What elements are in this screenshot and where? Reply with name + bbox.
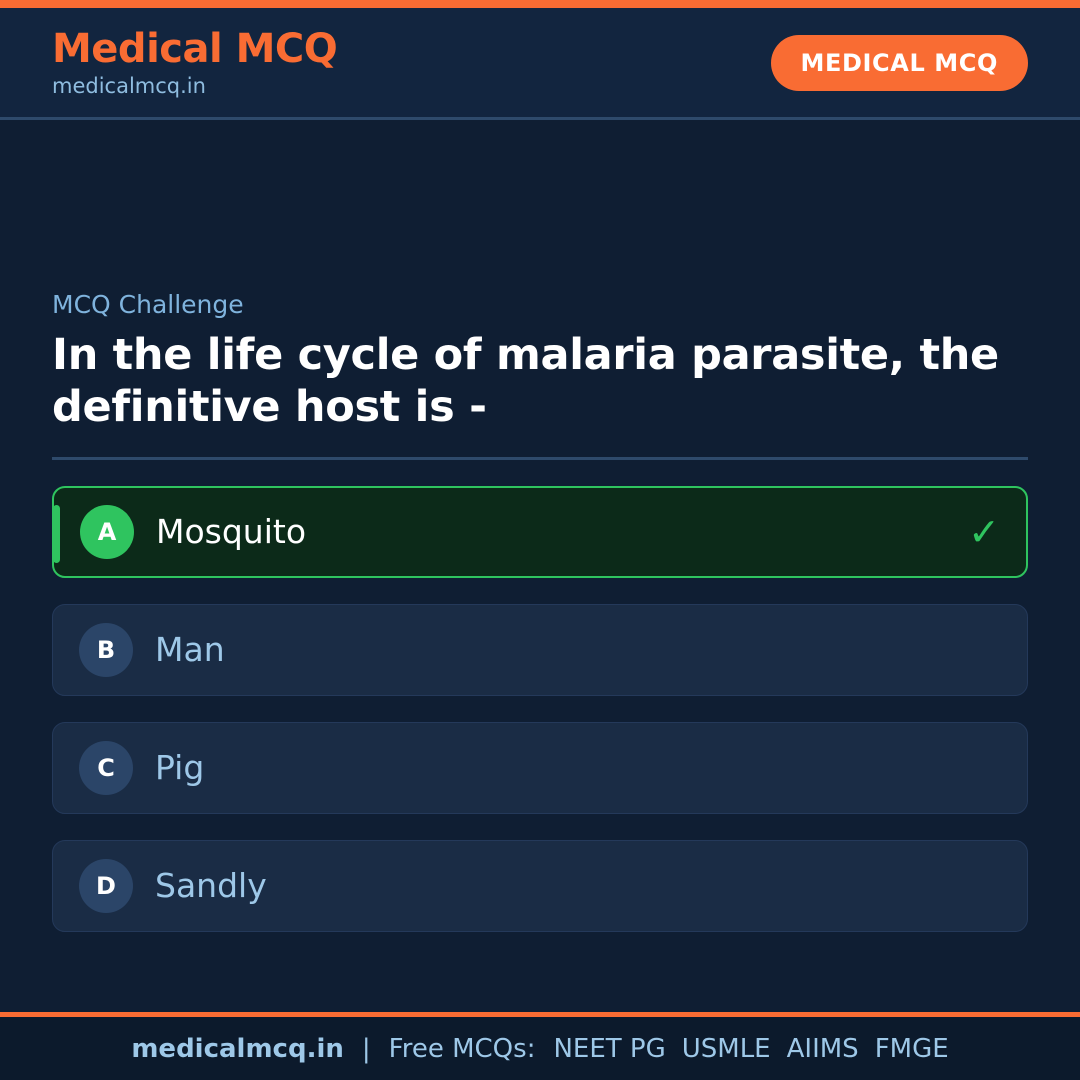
- footer-exam-usmle: USMLE: [682, 1034, 771, 1064]
- option-a-letter-badge: A: [80, 505, 134, 559]
- correct-accent-bar: [53, 505, 60, 563]
- option-b-letter-badge: B: [79, 623, 133, 677]
- option-d[interactable]: D Sandly ✓: [52, 840, 1028, 932]
- option-d-letter-badge: D: [79, 859, 133, 913]
- top-accent-rule: [0, 0, 1080, 8]
- mcq-card-page: Medical MCQ medicalmcq.in MEDICAL MCQ MC…: [0, 0, 1080, 1080]
- page-header: Medical MCQ medicalmcq.in MEDICAL MCQ: [0, 8, 1080, 120]
- main-content: MCQ Challenge In the life cycle of malar…: [0, 120, 1080, 1012]
- page-footer: medicalmcq.in | Free MCQs: NEET PG USMLE…: [0, 1012, 1080, 1080]
- brand-title: Medical MCQ: [52, 27, 337, 71]
- option-c[interactable]: C Pig ✓: [52, 722, 1028, 814]
- footer-free-label: Free MCQs:: [389, 1034, 536, 1064]
- footer-inner: medicalmcq.in | Free MCQs: NEET PG USMLE…: [131, 1034, 948, 1064]
- option-a-label: Mosquito: [156, 514, 306, 550]
- footer-exam-aiims: AIIMS: [787, 1034, 859, 1064]
- footer-site-label: medicalmcq.in: [131, 1034, 344, 1064]
- brand: Medical MCQ medicalmcq.in: [52, 27, 337, 98]
- option-c-label: Pig: [155, 750, 204, 786]
- option-b[interactable]: B Man ✓: [52, 604, 1028, 696]
- question-kicker: MCQ Challenge: [52, 290, 1028, 320]
- footer-exam-fmge: FMGE: [875, 1034, 949, 1064]
- option-c-letter-badge: C: [79, 741, 133, 795]
- option-b-label: Man: [155, 632, 225, 668]
- footer-exam-neetpg: NEET PG: [553, 1034, 665, 1064]
- check-icon: ✓: [968, 513, 1000, 551]
- question-divider: [52, 457, 1028, 460]
- question-block: MCQ Challenge In the life cycle of malar…: [52, 290, 1028, 433]
- footer-exam-list: NEET PG USMLE AIIMS FMGE: [553, 1034, 948, 1064]
- brand-subtitle: medicalmcq.in: [52, 75, 337, 98]
- question-text: In the life cycle of malaria parasite, t…: [52, 330, 1012, 433]
- options-list: A Mosquito ✓ B Man ✓ C Pig ✓ D Sandly ✓: [52, 486, 1028, 932]
- header-badge: MEDICAL MCQ: [771, 35, 1028, 91]
- footer-separator: |: [362, 1034, 371, 1064]
- option-a[interactable]: A Mosquito ✓: [52, 486, 1028, 578]
- option-d-label: Sandly: [155, 868, 267, 904]
